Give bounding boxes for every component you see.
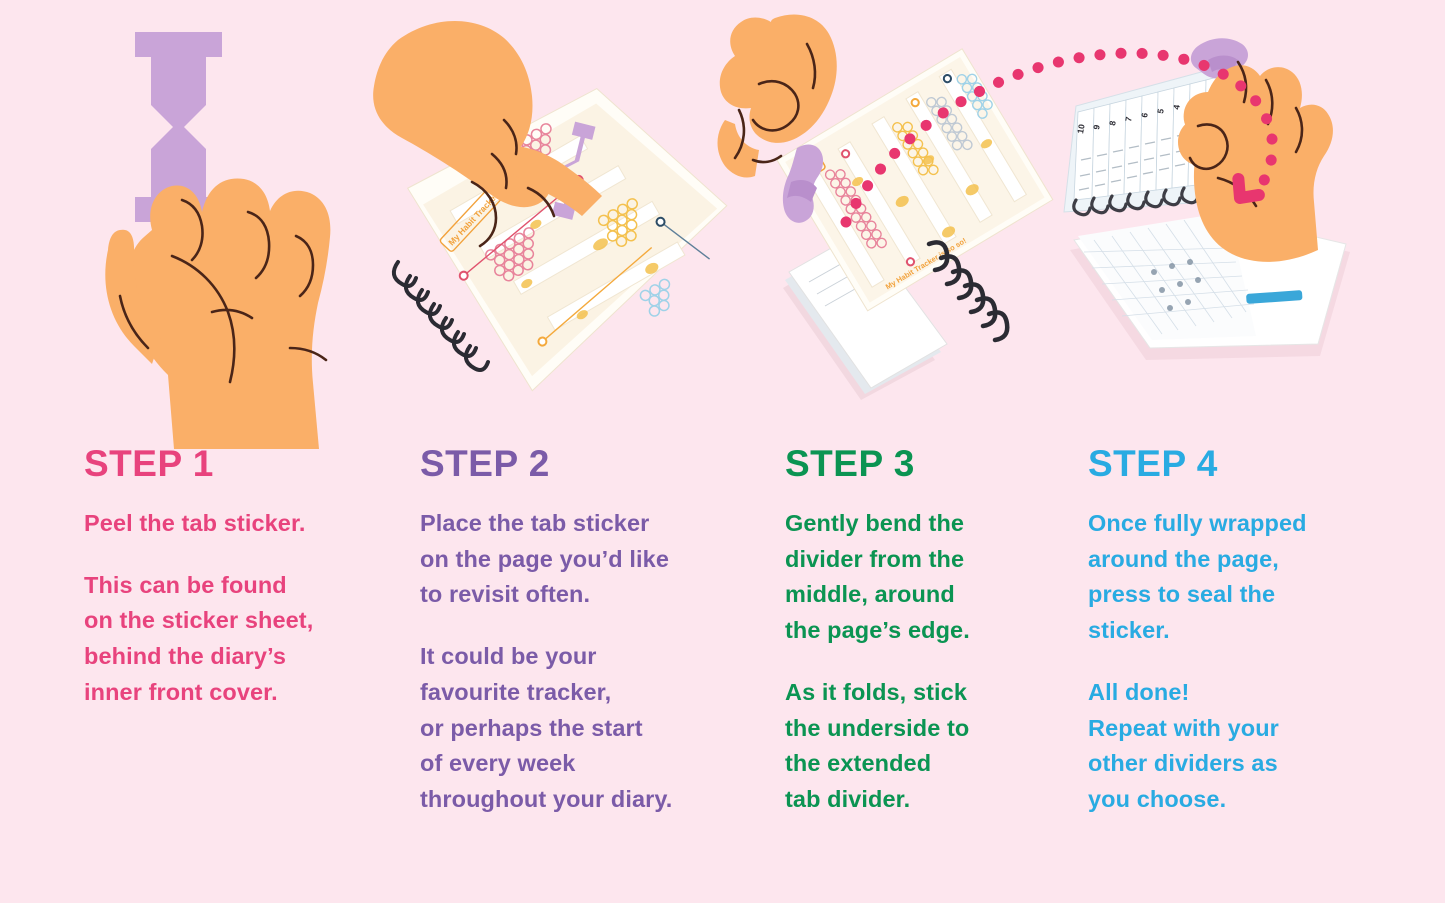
step-4-heading: STEP 4 — [1088, 445, 1388, 482]
step-2-illustration: My Habit Tracker is so so! — [380, 0, 720, 445]
step-3-column: STEP 3 Gently bend thedivider from themi… — [785, 445, 1055, 818]
illustration-band: My Habit Tracker is so so! — [0, 0, 1445, 445]
step-2-column: STEP 2 Place the tab stickeron the page … — [420, 445, 750, 818]
step-2-paragraph-2: It could be yourfavourite tracker,or per… — [420, 639, 750, 818]
steps-text-band: STEP 1 Peel the tab sticker. This can be… — [0, 445, 1445, 903]
step-4-illustration: 10 9 8 7 6 5 4 3 2 1 — [1050, 0, 1400, 445]
step-3-paragraph-2: As it folds, stickthe underside tothe ex… — [785, 675, 1055, 818]
spiral-binding — [929, 242, 1007, 340]
step-1-column: STEP 1 Peel the tab sticker. This can be… — [84, 445, 384, 711]
step-4-paragraph-2: All done!Repeat with yourother dividers … — [1088, 675, 1388, 818]
svg-text:10: 10 — [1075, 123, 1087, 134]
step-1-illustration — [60, 0, 400, 445]
infographic-board: My Habit Tracker is so so! — [0, 0, 1445, 903]
step-4-paragraph-1: Once fully wrappedaround the page,press … — [1088, 506, 1388, 649]
step-3-heading: STEP 3 — [785, 445, 1055, 482]
step-3-paragraph-1: Gently bend thedivider from themiddle, a… — [785, 506, 1055, 649]
step-2-heading: STEP 2 — [420, 445, 750, 482]
step-1-paragraph-1: Peel the tab sticker. — [84, 506, 384, 542]
step-1-paragraph-2: This can be foundon the sticker sheet,be… — [84, 568, 384, 711]
step-3-illustration: My Habit Tracker is so so! — [725, 0, 1055, 445]
step-4-column: STEP 4 Once fully wrappedaround the page… — [1088, 445, 1388, 818]
step-1-heading: STEP 1 — [84, 445, 384, 482]
step-2-paragraph-1: Place the tab stickeron the page you’d l… — [420, 506, 750, 613]
